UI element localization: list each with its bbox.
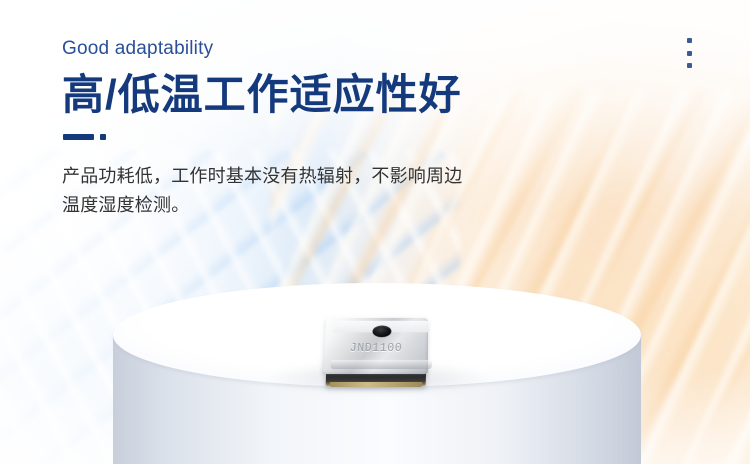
kebab-dot-3	[687, 63, 692, 68]
device-sensor-hole-icon	[372, 326, 391, 338]
kebab-dot-1	[687, 38, 692, 43]
accent-rule-bar	[63, 134, 94, 140]
body-copy: 产品功耗低，工作时基本没有热辐射，不影响周边 温度湿度检测。	[62, 162, 577, 220]
kebab-dot-2	[687, 51, 692, 56]
accent-rule-dot	[100, 134, 106, 140]
eyebrow-text: Good adaptability	[62, 38, 622, 61]
device-housing-rim	[330, 360, 432, 369]
kebab-menu-icon[interactable]	[680, 38, 698, 68]
page-title: 高/低温工作适应性好	[62, 71, 622, 118]
device-model-label: JND1100	[318, 342, 435, 355]
body-copy-line-2: 温度湿度检测。	[62, 191, 577, 220]
accent-rule	[63, 134, 622, 140]
product-feature-banner: JND1100 Good adaptability 高/低温工作适应性好 产品功…	[0, 0, 750, 464]
product-image-jnd1100: JND1100	[318, 312, 434, 392]
device-pcb-contacts	[330, 382, 422, 387]
body-copy-line-1: 产品功耗低，工作时基本没有热辐射，不影响周边	[62, 162, 577, 191]
headline-text-block: Good adaptability 高/低温工作适应性好 产品功耗低，工作时基本…	[62, 38, 622, 220]
